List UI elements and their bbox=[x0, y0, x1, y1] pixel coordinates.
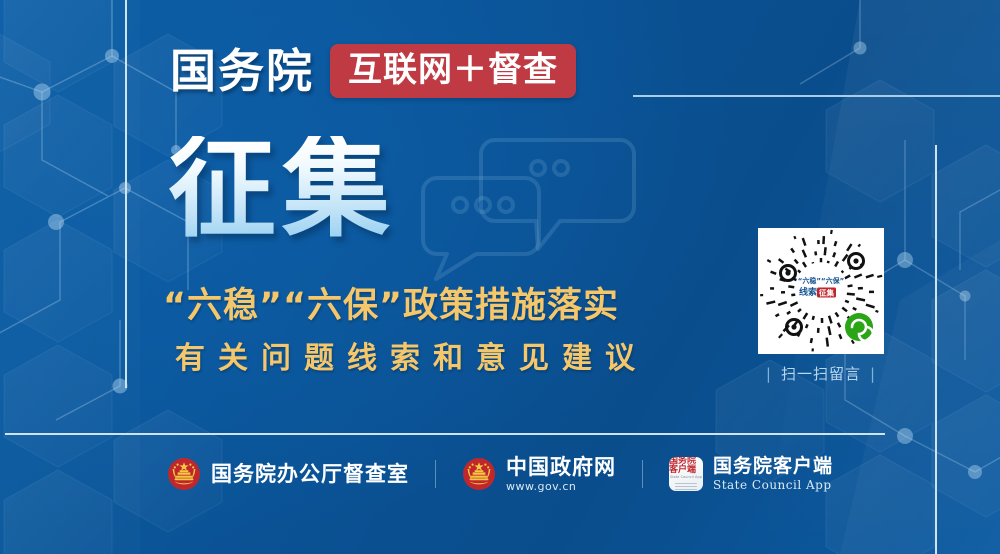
footer-item-state-council-app[interactable]: 国务院客户端 State Council App 国务院客户端 State Co… bbox=[643, 456, 859, 494]
qr-code[interactable]: “六稳”“六保” 线索 征集 bbox=[758, 228, 884, 354]
qr-caption-tick-right: | bbox=[870, 365, 876, 383]
footer-label-group: 中国政府网 www.gov.cn bbox=[506, 455, 616, 494]
poster-canvas: 国务院 互联网＋督查 征集 “六稳”“六保”政策措施落实 有关问题线索和意见建议 bbox=[0, 0, 1000, 554]
wechat-miniprogram-icon bbox=[845, 313, 873, 341]
footer-item-url: www.gov.cn bbox=[506, 481, 616, 494]
subtitle-line-1: “六稳”“六保”政策措施落实 bbox=[163, 287, 619, 326]
app-icon-en-text: State Council App bbox=[670, 476, 702, 479]
speech-bubble-front-icon bbox=[423, 178, 539, 279]
national-emblem-icon bbox=[167, 457, 201, 491]
footer-item-title: 中国政府网 bbox=[506, 455, 616, 479]
qr-block: “六稳”“六保” 线索 征集 | 扫一扫留言 | bbox=[758, 228, 884, 384]
qr-center-label-main: 线索 bbox=[799, 286, 817, 298]
footer-item-title: 国务院客户端 bbox=[713, 456, 833, 478]
header-badge: 互联网＋督查 bbox=[330, 44, 576, 98]
qr-center-label-top: “六稳”“六保” bbox=[798, 276, 844, 285]
footer-item-title: 国务院办公厅督查室 bbox=[211, 462, 409, 486]
state-council-app-icon: 国务院客户端 State Council App bbox=[669, 457, 703, 491]
footer-label-group: 国务院办公厅督查室 bbox=[211, 462, 409, 486]
qr-caption: | 扫一扫留言 | bbox=[758, 363, 884, 384]
divider-vertical-left bbox=[125, 0, 127, 388]
network-nodes-left bbox=[0, 0, 188, 420]
headline-text: 征集 bbox=[168, 136, 396, 244]
network-dots-left bbox=[34, 49, 182, 394]
qr-caption-tick-left: | bbox=[766, 365, 772, 383]
footer-label-group: 国务院客户端 State Council App bbox=[713, 456, 833, 494]
divider-horizontal-top bbox=[633, 95, 1000, 97]
poster-footer: 国务院办公厅督查室 bbox=[0, 455, 1000, 494]
qr-caption-text: 扫一扫留言 bbox=[781, 363, 861, 384]
divider-horizontal-bottom bbox=[5, 433, 885, 435]
app-icon-cn-text: 国务院客户端 bbox=[669, 457, 703, 475]
footer-item-subtitle: State Council App bbox=[713, 479, 833, 493]
footer-item-gov-cn[interactable]: 中国政府网 www.gov.cn bbox=[436, 455, 642, 494]
footer-item-state-council-supervision[interactable]: 国务院办公厅督查室 bbox=[141, 457, 435, 491]
qr-center-label-badge: 征集 bbox=[819, 288, 834, 298]
poster-header: 国务院 互联网＋督查 bbox=[170, 44, 576, 98]
national-emblem-icon bbox=[462, 457, 496, 491]
subtitle-line-2: 有关问题线索和意见建议 bbox=[175, 342, 648, 375]
app-icon-lines bbox=[675, 483, 697, 492]
header-title: 国务院 bbox=[170, 48, 314, 94]
speech-bubble-back-icon bbox=[481, 140, 634, 249]
